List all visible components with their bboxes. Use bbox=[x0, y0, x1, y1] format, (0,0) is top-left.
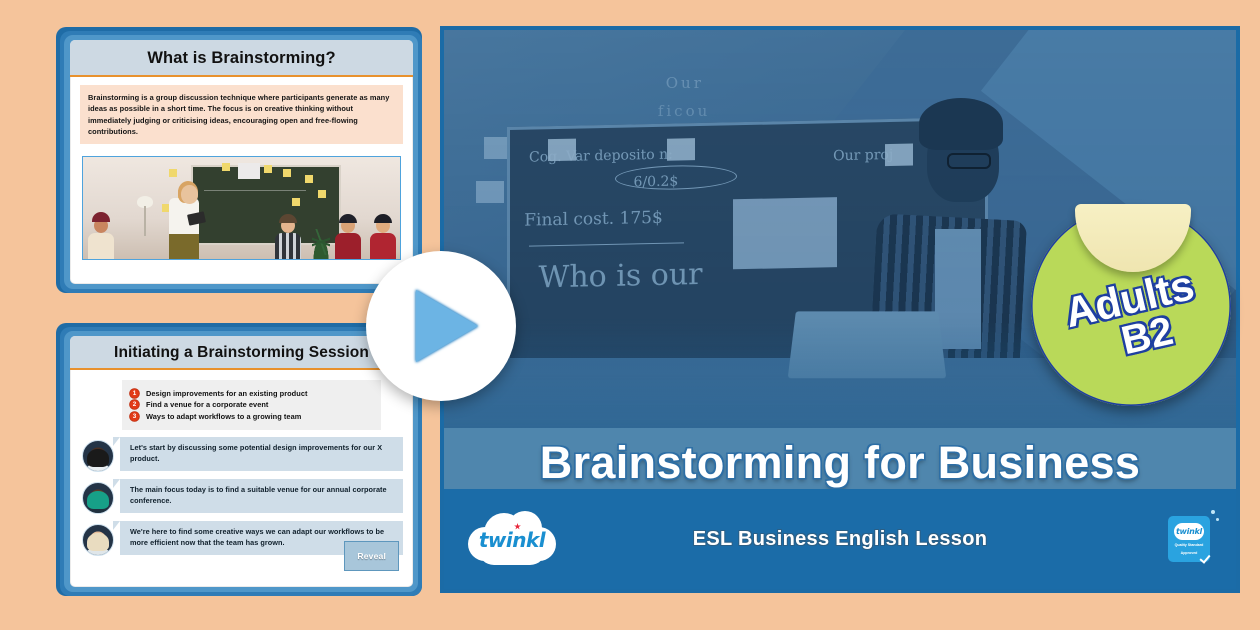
bullet-number-icon: 2 bbox=[130, 400, 139, 409]
dialogue-text: Let's start by discussing some potential… bbox=[130, 443, 395, 465]
avatar bbox=[82, 524, 114, 556]
badge-line-2: B2 bbox=[1118, 311, 1177, 361]
twinkl-mini-logo-icon: twinkl bbox=[1174, 523, 1204, 540]
quality-standard-approved-badge: twinkl Quality Standard Approved bbox=[1168, 516, 1210, 562]
dialogue-row: Let's start by discussing some potential… bbox=[80, 437, 403, 472]
twinkl-logo-icon: twinkl bbox=[468, 511, 556, 567]
slide-1-classroom-photo bbox=[82, 156, 401, 260]
list-item: 1 Design improvements for an existing pr… bbox=[130, 389, 373, 398]
page-subtitle: ESL Business English Lesson bbox=[693, 528, 987, 551]
reveal-button-wrapper: Reveal bbox=[344, 541, 399, 571]
avatar bbox=[82, 482, 114, 514]
play-button[interactable] bbox=[366, 251, 516, 401]
slide-1-body: Brainstorming is a group discussion tech… bbox=[70, 77, 413, 260]
qsa-line-2: Approved bbox=[1181, 551, 1198, 555]
bullet-number-icon: 3 bbox=[130, 412, 139, 421]
preview-stage: What is Brainstorming? Brainstorming is … bbox=[0, 0, 1260, 630]
bullet-text: Design improvements for an existing prod… bbox=[146, 389, 308, 398]
slide-thumbnail-2[interactable]: Initiating a Brainstorming Session 1 Des… bbox=[56, 323, 422, 596]
list-item: 2 Find a venue for a corporate event bbox=[130, 400, 373, 409]
bullet-number-icon: 1 bbox=[130, 389, 139, 398]
slide-1-title: What is Brainstorming? bbox=[70, 40, 413, 77]
list-item: 3 Ways to adapt workflows to a growing t… bbox=[130, 412, 373, 421]
avatar bbox=[82, 440, 114, 472]
dialogue-row: The main focus today is to find a suitab… bbox=[80, 479, 403, 514]
reveal-button[interactable]: Reveal bbox=[344, 541, 399, 571]
bullet-text: Find a venue for a corporate event bbox=[146, 400, 268, 409]
slide-thumbnail-1[interactable]: What is Brainstorming? Brainstorming is … bbox=[56, 27, 422, 293]
speech-bubble: Let's start by discussing some potential… bbox=[120, 437, 403, 471]
bullet-list: 1 Design improvements for an existing pr… bbox=[122, 380, 381, 430]
speech-bubble: The main focus today is to find a suitab… bbox=[120, 479, 403, 513]
badge-text: Adults B2 bbox=[1011, 186, 1251, 426]
slide-1-paragraph: Brainstorming is a group discussion tech… bbox=[80, 85, 403, 144]
footer-bar: twinkl ESL Business English Lesson twink… bbox=[444, 489, 1236, 589]
bullet-text: Ways to adapt workflows to a growing tea… bbox=[146, 412, 301, 421]
play-icon bbox=[416, 290, 478, 362]
slide-2-title: Initiating a Brainstorming Session bbox=[70, 336, 413, 370]
slide-1-face: What is Brainstorming? Brainstorming is … bbox=[70, 40, 413, 284]
dialogue-text: The main focus today is to find a suitab… bbox=[130, 485, 395, 507]
page-title: Brainstorming for Business bbox=[444, 437, 1236, 489]
slide-2-body: 1 Design improvements for an existing pr… bbox=[70, 370, 413, 556]
twinkl-wordmark: twinkl bbox=[468, 528, 556, 552]
checkmark-icon bbox=[1200, 547, 1213, 564]
level-badge: Adults B2 bbox=[1031, 206, 1231, 406]
slide-2-face: Initiating a Brainstorming Session 1 Des… bbox=[70, 336, 413, 587]
